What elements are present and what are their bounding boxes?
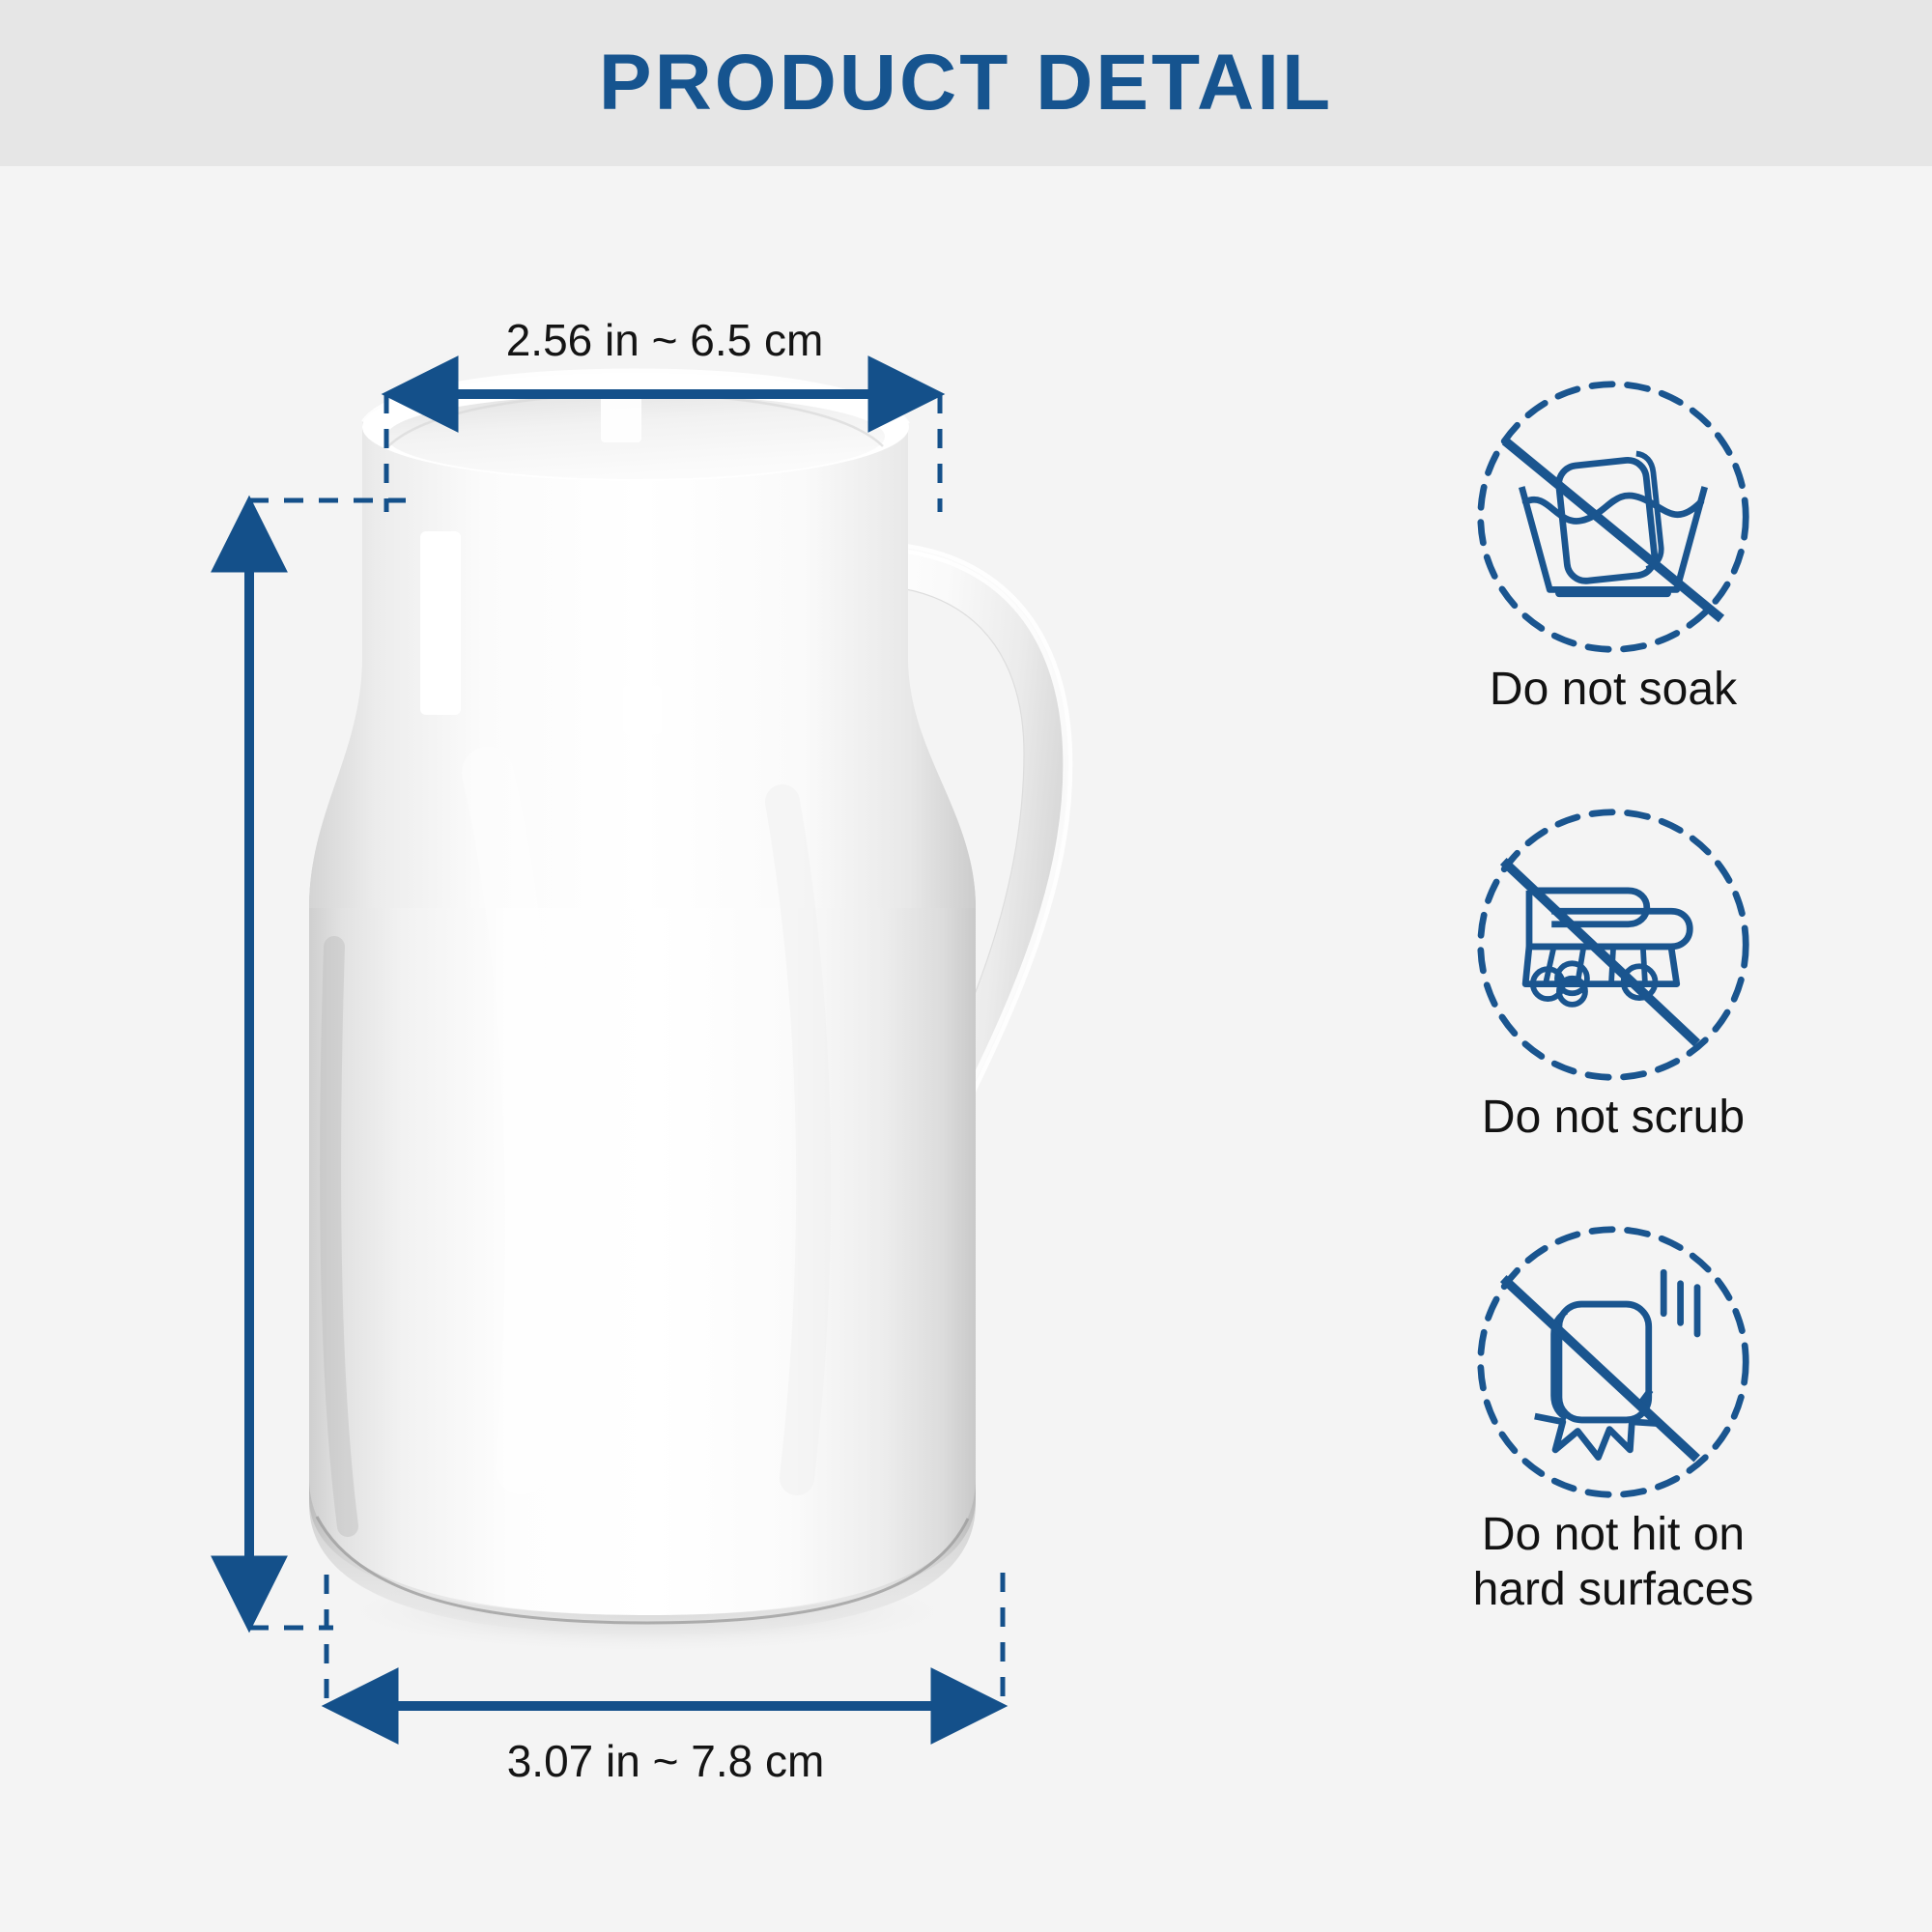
page-title: PRODUCT DETAIL: [0, 0, 1932, 166]
product-detail-page: PRODUCT DETAIL: [0, 0, 1932, 1932]
care-label-no-impact: Do not hit on hard surfaces: [1372, 1508, 1855, 1617]
bottom-width-label: 3.07 in ~ 7.8 cm: [324, 1735, 1008, 1787]
care-instructions-list: Do not soak: [1372, 377, 1855, 1618]
care-item-no-soak: Do not soak: [1372, 377, 1855, 718]
care-label-no-scrub: Do not scrub: [1372, 1091, 1855, 1146]
mug-illustration: [241, 367, 1111, 1652]
care-item-no-impact: Do not hit on hard surfaces: [1372, 1222, 1855, 1617]
no-soak-icon: [1473, 377, 1753, 657]
care-label-no-impact-line1: Do not hit on: [1372, 1508, 1855, 1563]
care-item-no-scrub: Do not scrub: [1372, 805, 1855, 1146]
product-image: [241, 367, 1111, 1652]
care-label-no-impact-line2: hard surfaces: [1372, 1563, 1855, 1618]
care-label-no-soak: Do not soak: [1372, 663, 1855, 718]
no-scrub-icon: [1473, 805, 1753, 1085]
no-impact-icon: [1473, 1222, 1753, 1502]
top-width-label: 2.56 in ~ 6.5 cm: [384, 314, 945, 366]
